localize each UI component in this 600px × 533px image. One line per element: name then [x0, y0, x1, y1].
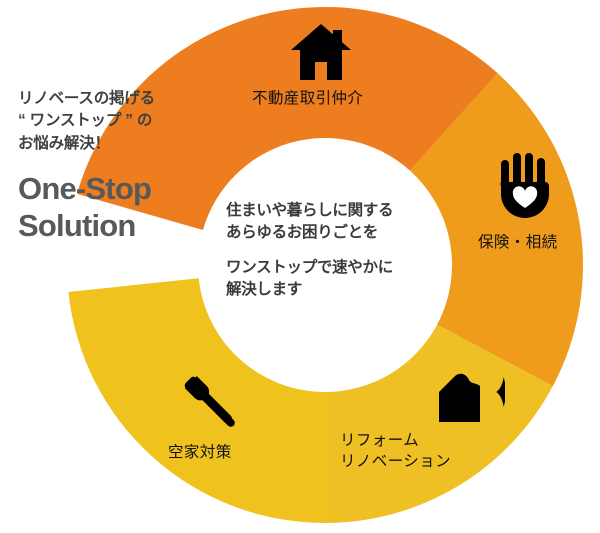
segment-label-real-estate: 不動産取引仲介 [252, 88, 363, 109]
center-copy-block: 住まいや暮らしに関する あらゆるお困りごとを ワンストップで速やかに 解決します [226, 200, 456, 302]
segment-label-vacant-house: 空家対策 [168, 442, 232, 463]
lead-line-3: お悩み解決！ [18, 133, 218, 155]
page-title: One-Stop Solution [18, 171, 218, 244]
center-paragraph-2-line-1: ワンストップで速やかに [226, 257, 456, 279]
segment-label-reform-line-1: リフォーム [340, 430, 451, 451]
center-paragraph-2: ワンストップで速やかに 解決します [226, 257, 456, 302]
lead-line-2: “ ワンストップ ” の [18, 110, 218, 132]
center-paragraph-1-line-1: 住まいや暮らしに関する [226, 200, 456, 222]
segment-label-insurance: 保険・相続 [478, 232, 558, 253]
segment-label-vacant-house-line-1: 空家対策 [168, 442, 232, 463]
infographic-canvas: リノベースの掲げる “ ワンストップ ” の お悩み解決！ One-Stop S… [0, 0, 600, 533]
house-sparkle-icon [437, 372, 505, 424]
segment-label-insurance-line-1: 保険・相続 [478, 232, 558, 253]
segment-label-reform: リフォーム リノベーション [340, 430, 451, 473]
segment-label-real-estate-line-1: 不動産取引仲介 [252, 88, 363, 109]
hammer-wrench-icon [177, 372, 245, 434]
page-title-line-2: Solution [18, 208, 218, 245]
center-paragraph-1: 住まいや暮らしに関する あらゆるお困りごとを [226, 200, 456, 245]
page-title-line-1: One-Stop [18, 171, 218, 208]
segment-label-reform-line-2: リノベーション [340, 451, 451, 472]
house-icon [289, 22, 353, 82]
center-paragraph-1-line-2: あらゆるお困りごとを [226, 222, 456, 244]
lead-line-1: リノベースの掲げる [18, 88, 218, 110]
headline-block: リノベースの掲げる “ ワンストップ ” の お悩み解決！ One-Stop S… [18, 88, 218, 244]
center-paragraph-2-line-2: 解決します [226, 279, 456, 301]
hand-heart-icon [497, 152, 553, 218]
